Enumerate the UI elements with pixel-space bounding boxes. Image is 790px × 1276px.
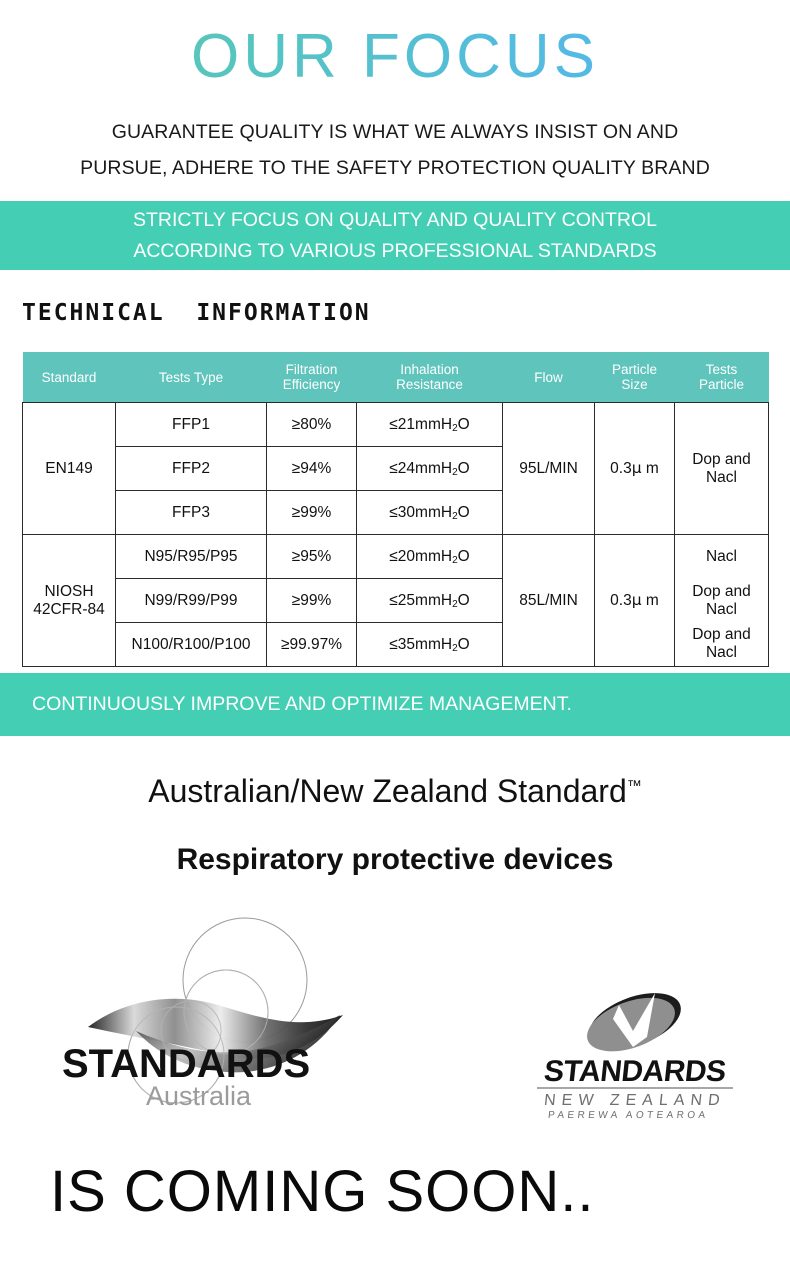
cell-inhalation-resistance: ≤25mmH2O [357, 579, 503, 623]
logo-nz-maori-wordmark: PAEREWA AOTEAROA [547, 1110, 709, 1120]
cell-filtration-efficiency: ≥80% [267, 403, 357, 447]
hero-subtitle: GUARANTEE QUALITY IS WHAT WE ALWAYS INSI… [0, 114, 790, 186]
standards-australia-logo-svg: STANDARDS Australia [58, 905, 368, 1150]
column-header-standard: Standard [23, 352, 116, 403]
logo-nz-sub-wordmark: NEW ZEALAND [543, 1091, 726, 1109]
column-header-tests-particle: Tests Particle [675, 352, 769, 403]
table-row: EN149 FFP1 ≥80% ≤21mmH2O 95L/MIN 0.3µ m … [23, 403, 769, 447]
banner-quality-focus: STRICTLY FOCUS ON QUALITY AND QUALITY CO… [0, 201, 790, 270]
column-header-filtration-efficiency-line-2: Efficiency [269, 377, 355, 392]
logo-nz-wordmark: STANDARDS [542, 1055, 727, 1088]
standards-australia-logo: STANDARDS Australia [58, 905, 368, 1150]
technical-information-table-wrapper: Standard Tests Type Filtration Efficienc… [22, 352, 768, 667]
column-header-particle-size-line-2: Size [597, 377, 673, 392]
column-header-tests-type: Tests Type [116, 352, 267, 403]
coming-soon-text: IS COMING SOON.. [50, 1158, 595, 1225]
trademark-symbol: ™ [627, 777, 642, 794]
column-header-flow: Flow [503, 352, 595, 403]
column-header-particle-size: Particle Size [595, 352, 675, 403]
cell-filtration-efficiency: ≥99% [267, 579, 357, 623]
banner-quality-focus-line-1: STRICTLY FOCUS ON QUALITY AND QUALITY CO… [0, 205, 790, 236]
banner-quality-focus-line-2: ACCORDING TO VARIOUS PROFESSIONAL STANDA… [0, 236, 790, 267]
cell-inhalation-resistance: ≤21mmH2O [357, 403, 503, 447]
column-header-filtration-efficiency: Filtration Efficiency [267, 352, 357, 403]
cell-particle-size: 0.3µ m [595, 535, 675, 667]
aus-nz-standard-subtitle: Respiratory protective devices [0, 843, 790, 877]
cell-standard-line-2: 42CFR-84 [27, 601, 111, 619]
cell-tests-type: FFP2 [116, 447, 267, 491]
banner-continuous-improvement: CONTINUOUSLY IMPROVE AND OPTIMIZE MANAGE… [0, 673, 790, 736]
technical-information-table: Standard Tests Type Filtration Efficienc… [22, 352, 769, 667]
logo-australia-wordmark: STANDARDS [62, 1042, 310, 1086]
column-header-tests-particle-line-1: Tests [677, 362, 767, 377]
aus-nz-standard-title: Australian/New Zealand Standard™ [0, 773, 790, 810]
page-title: OUR FOCUS [0, 24, 790, 89]
cell-standard-line-1: NIOSH [27, 583, 111, 601]
section-heading-technical-information: TECHNICAL INFORMATION [22, 300, 371, 326]
hero-subtitle-line-1: GUARANTEE QUALITY IS WHAT WE ALWAYS INSI… [0, 114, 790, 150]
table-row: NIOSH 42CFR-84 N95/R95/P95 ≥95% ≤20mmH2O… [23, 535, 769, 579]
cell-filtration-efficiency: ≥99.97% [267, 623, 357, 667]
hero-subtitle-line-2: PURSUE, ADHERE TO THE SAFETY PROTECTION … [0, 150, 790, 186]
cell-filtration-efficiency: ≥94% [267, 447, 357, 491]
cell-inhalation-resistance: ≤30mmH2O [357, 491, 503, 535]
cell-tests-particle: Dop and Nacl [675, 623, 769, 667]
logo-nz-mark [579, 985, 689, 1062]
aus-nz-standard-title-text: Australian/New Zealand Standard [148, 773, 627, 809]
cell-tests-particle: Dop and Nacl [675, 579, 769, 623]
cell-standard: EN149 [23, 403, 116, 535]
cell-tests-type: N95/R95/P95 [116, 535, 267, 579]
cell-flow: 95L/MIN [503, 403, 595, 535]
table-header-row: Standard Tests Type Filtration Efficienc… [23, 352, 769, 403]
cell-tests-type: N99/R99/P99 [116, 579, 267, 623]
cell-tests-type: FFP3 [116, 491, 267, 535]
column-header-particle-size-line-1: Particle [597, 362, 673, 377]
cell-flow: 85L/MIN [503, 535, 595, 667]
column-header-inhalation-resistance-line-2: Resistance [359, 377, 501, 392]
cell-particle-size: 0.3µ m [595, 403, 675, 535]
logo-australia-sub-wordmark: Australia [146, 1081, 252, 1111]
standards-new-zealand-logo-svg: STANDARDS NEW ZEALAND PAEREWA AOTEAROA [515, 985, 755, 1120]
cell-tests-particle: Nacl [675, 535, 769, 579]
column-header-filtration-efficiency-line-1: Filtration [269, 362, 355, 377]
cell-tests-particle: Dop and Nacl [675, 403, 769, 535]
cell-filtration-efficiency: ≥99% [267, 491, 357, 535]
cell-inhalation-resistance: ≤35mmH2O [357, 623, 503, 667]
cell-tests-type: N100/R100/P100 [116, 623, 267, 667]
cell-inhalation-resistance: ≤20mmH2O [357, 535, 503, 579]
column-header-inhalation-resistance-line-1: Inhalation [359, 362, 501, 377]
column-header-inhalation-resistance: Inhalation Resistance [357, 352, 503, 403]
cell-tests-type: FFP1 [116, 403, 267, 447]
standards-new-zealand-logo: STANDARDS NEW ZEALAND PAEREWA AOTEAROA [515, 985, 755, 1120]
cell-filtration-efficiency: ≥95% [267, 535, 357, 579]
cell-standard: NIOSH 42CFR-84 [23, 535, 116, 667]
column-header-tests-particle-line-2: Particle [677, 377, 767, 392]
cell-inhalation-resistance: ≤24mmH2O [357, 447, 503, 491]
